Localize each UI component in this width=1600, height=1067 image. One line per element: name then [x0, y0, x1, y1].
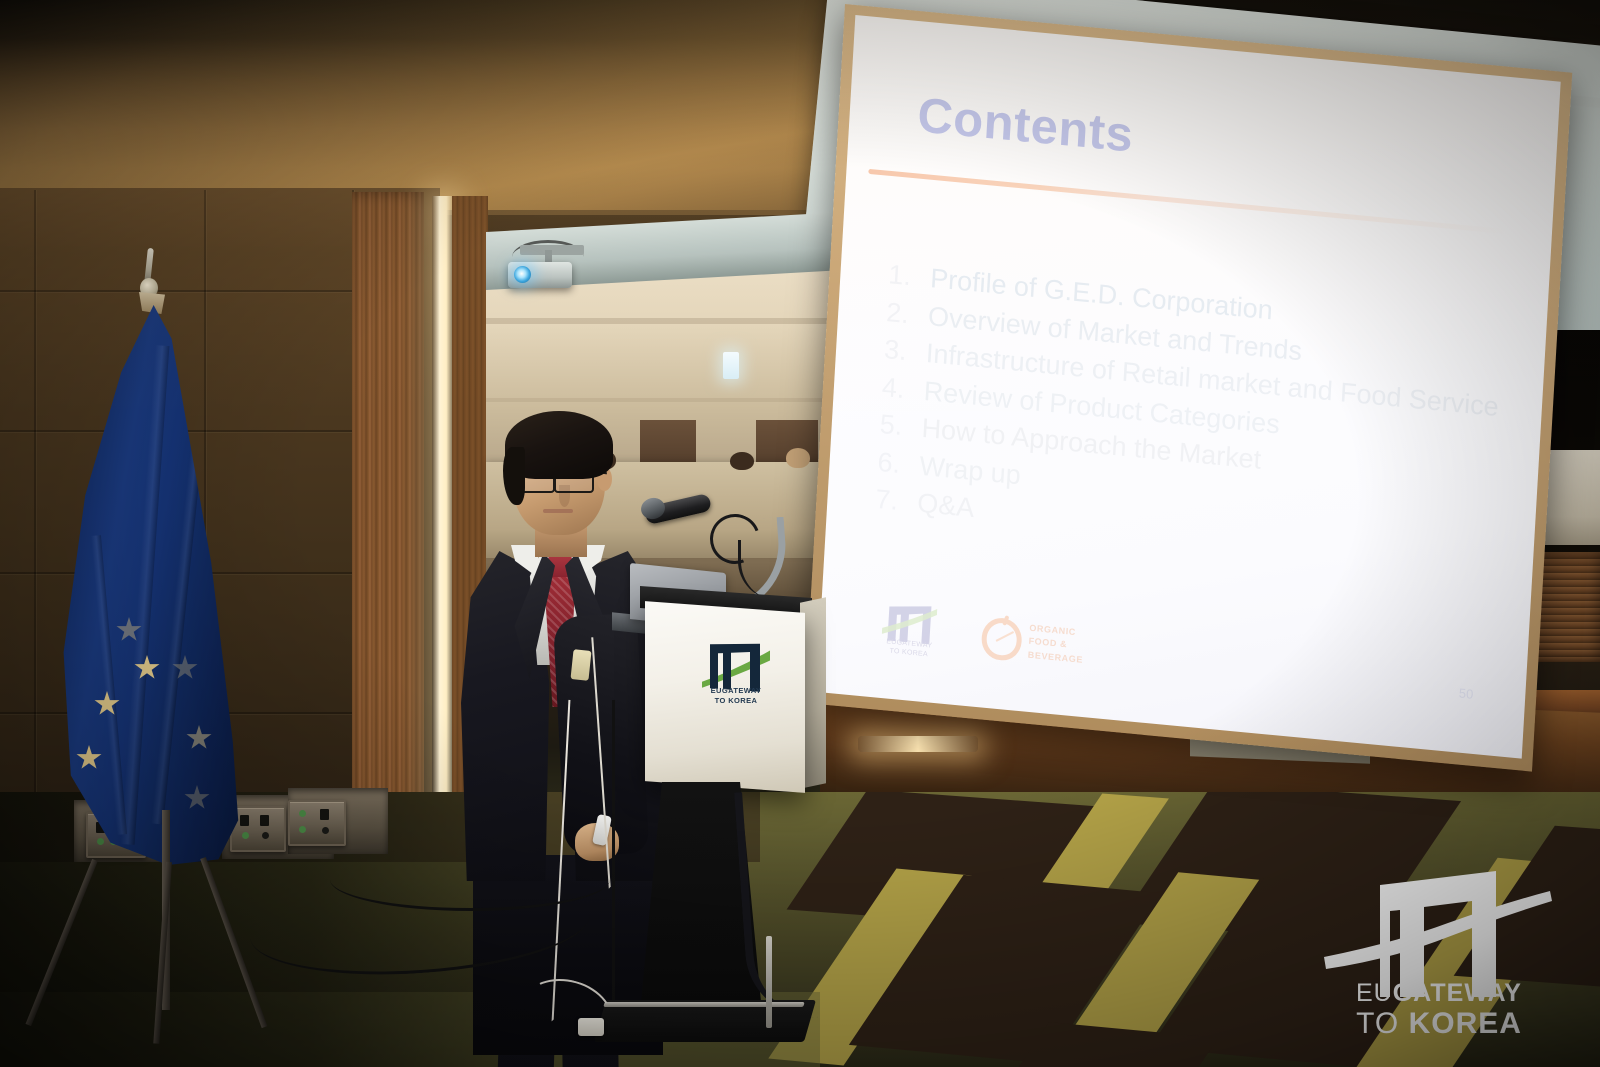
toc-item-number: 2.: [885, 295, 929, 333]
eu-gateway-watermark: EUGATEWAY TO KOREA: [1324, 865, 1554, 1045]
slide-title: Contents: [916, 91, 1509, 196]
eu-star-icon: [186, 725, 212, 751]
toc-item-number: 6.: [877, 445, 921, 483]
presentation-room-photo: Contents 1. Profile of G.E.D. Corporatio…: [0, 0, 1600, 1067]
projector-lens-icon: [514, 266, 531, 283]
slide-page-number: 50: [1458, 685, 1473, 701]
ceiling-warm-glow: [0, 0, 880, 210]
podium-base-rail: [603, 1002, 804, 1007]
projector-mount: [520, 245, 584, 255]
watermark-line1: EUGATEWAY: [1324, 979, 1554, 1007]
background-person-head: [786, 448, 810, 468]
eu-gateway-to-korea-logo: EUGATEWAY TO KOREA: [880, 598, 937, 663]
organic-food-and-beverage-logo: ORGANIC FOOD & BEVERAGE: [980, 614, 1092, 670]
background-person-head: [730, 452, 754, 470]
table-of-contents: 1. Profile of G.E.D. Corporation 2. Over…: [874, 257, 1487, 576]
eu-star-icon: [76, 745, 102, 771]
toc-item-label: Wrap up: [919, 449, 1022, 493]
podium-logo: [700, 638, 770, 723]
presenter-mouth: [543, 509, 573, 513]
toc-item-number: 5.: [879, 407, 923, 445]
toc-item-number: 3.: [883, 332, 927, 370]
wall-seam: [34, 190, 36, 850]
wall-seam: [0, 290, 356, 292]
black-cable: [330, 848, 610, 911]
watermark-line2: TO KOREA: [1324, 1007, 1554, 1041]
black-cable: [612, 700, 643, 1000]
flag-fold: [91, 535, 127, 835]
eu-star-icon: [184, 785, 210, 811]
av-outlet-panel: [230, 806, 286, 852]
podium-base-rail: [766, 936, 772, 1028]
toc-item-number: 4.: [881, 370, 925, 408]
lobby-wall-band: [486, 318, 866, 324]
wood-column: [352, 192, 424, 852]
lobby-wall-band: [486, 398, 866, 402]
watermark-text: EUGATEWAY TO KOREA: [1324, 979, 1554, 1041]
apple-icon: [981, 616, 1023, 662]
toc-item-label: Q&A: [916, 486, 975, 526]
presenter-hair: [503, 447, 525, 505]
podium-caption-line2: TO KOREA: [692, 696, 780, 706]
av-outlet-panel: [288, 800, 346, 846]
slide-footer-logos: EUGATEWAY TO KOREA ORGANIC FOOD & BEVERA…: [880, 598, 1093, 678]
projection-screen: Contents 1. Profile of G.E.D. Corporatio…: [805, 4, 1573, 772]
watermark-gateway: GATEWAY: [1393, 979, 1522, 1007]
logo-text: ORGANIC FOOD & BEVERAGE: [1027, 621, 1084, 667]
cove-light: [858, 736, 978, 752]
podium-caption-line1: EUGATEWAY: [692, 686, 780, 696]
watermark-korea: KOREA: [1409, 1007, 1522, 1040]
vertical-light-strip: [432, 196, 454, 846]
illuminated-sign: [723, 352, 739, 379]
podium-logo-caption: EUGATEWAY TO KOREA: [692, 686, 780, 706]
power-adapter: [570, 649, 591, 681]
watermark-eu: EU: [1356, 979, 1393, 1007]
toc-item-number: 7.: [875, 482, 919, 520]
slide-surface: Contents 1. Profile of G.E.D. Corporatio…: [816, 15, 1560, 759]
toc-item-number: 1.: [888, 257, 932, 295]
watermark-to: TO: [1356, 1007, 1399, 1040]
